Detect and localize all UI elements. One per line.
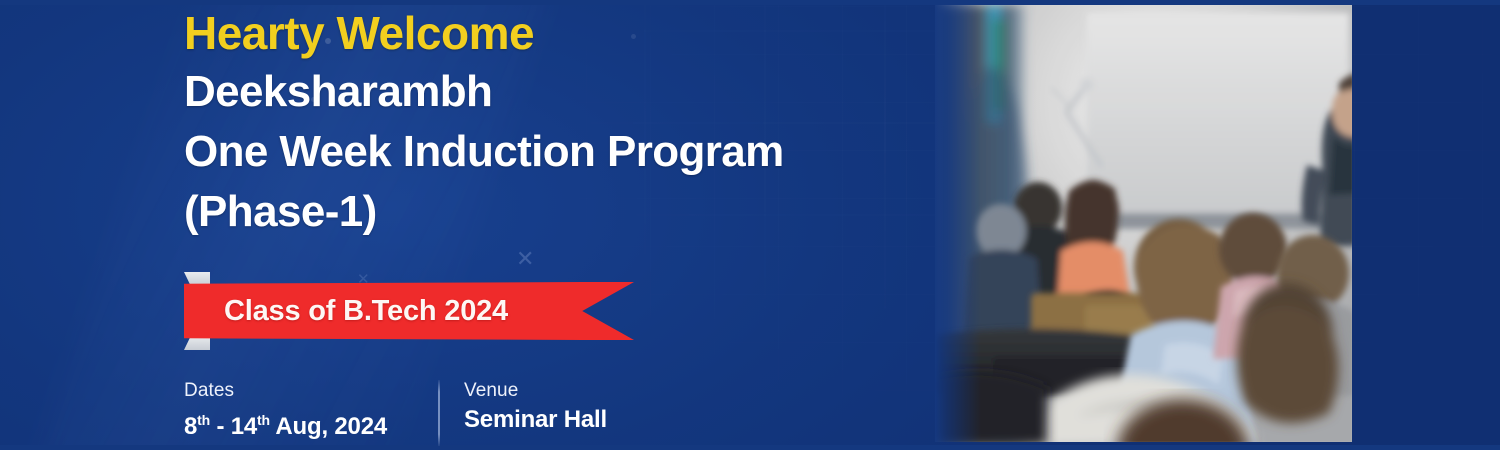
ribbon-label: Class of B.Tech 2024 <box>224 282 604 340</box>
banner-content: Hearty Welcome Deeksharambh One Week Ind… <box>184 0 944 450</box>
program-name-heading: Deeksharambh <box>184 62 944 122</box>
dates-day-start-suffix: th <box>197 412 210 428</box>
dates-day-end-suffix: th <box>257 412 270 428</box>
program-phase-line: (Phase-1) <box>184 182 944 242</box>
venue-value: Seminar Hall <box>464 404 607 436</box>
venue-label: Venue <box>464 378 607 404</box>
seminar-hall-photo <box>935 5 1352 442</box>
program-title-line: One Week Induction Program <box>184 122 944 182</box>
dates-value: 8th - 14th Aug, 2024 <box>184 404 438 443</box>
welcome-heading: Hearty Welcome <box>184 6 944 60</box>
dates-label: Dates <box>184 378 438 404</box>
dates-month-year: Aug, 2024 <box>270 413 387 440</box>
dates-block: Dates 8th - 14th Aug, 2024 <box>184 378 438 443</box>
venue-block: Venue Seminar Hall <box>440 378 607 436</box>
event-banner: ✕ ✕ Hearty Welcome Deeksharambh One Week… <box>0 0 1500 450</box>
event-info-row: Dates 8th - 14th Aug, 2024 Venue Seminar… <box>184 378 607 446</box>
headline-block: Hearty Welcome Deeksharambh One Week Ind… <box>184 6 944 242</box>
dates-separator: - <box>210 413 231 440</box>
dates-day-end: 14 <box>231 413 257 440</box>
class-ribbon: Class of B.Tech 2024 <box>180 272 650 350</box>
dates-day-start: 8 <box>184 413 197 440</box>
